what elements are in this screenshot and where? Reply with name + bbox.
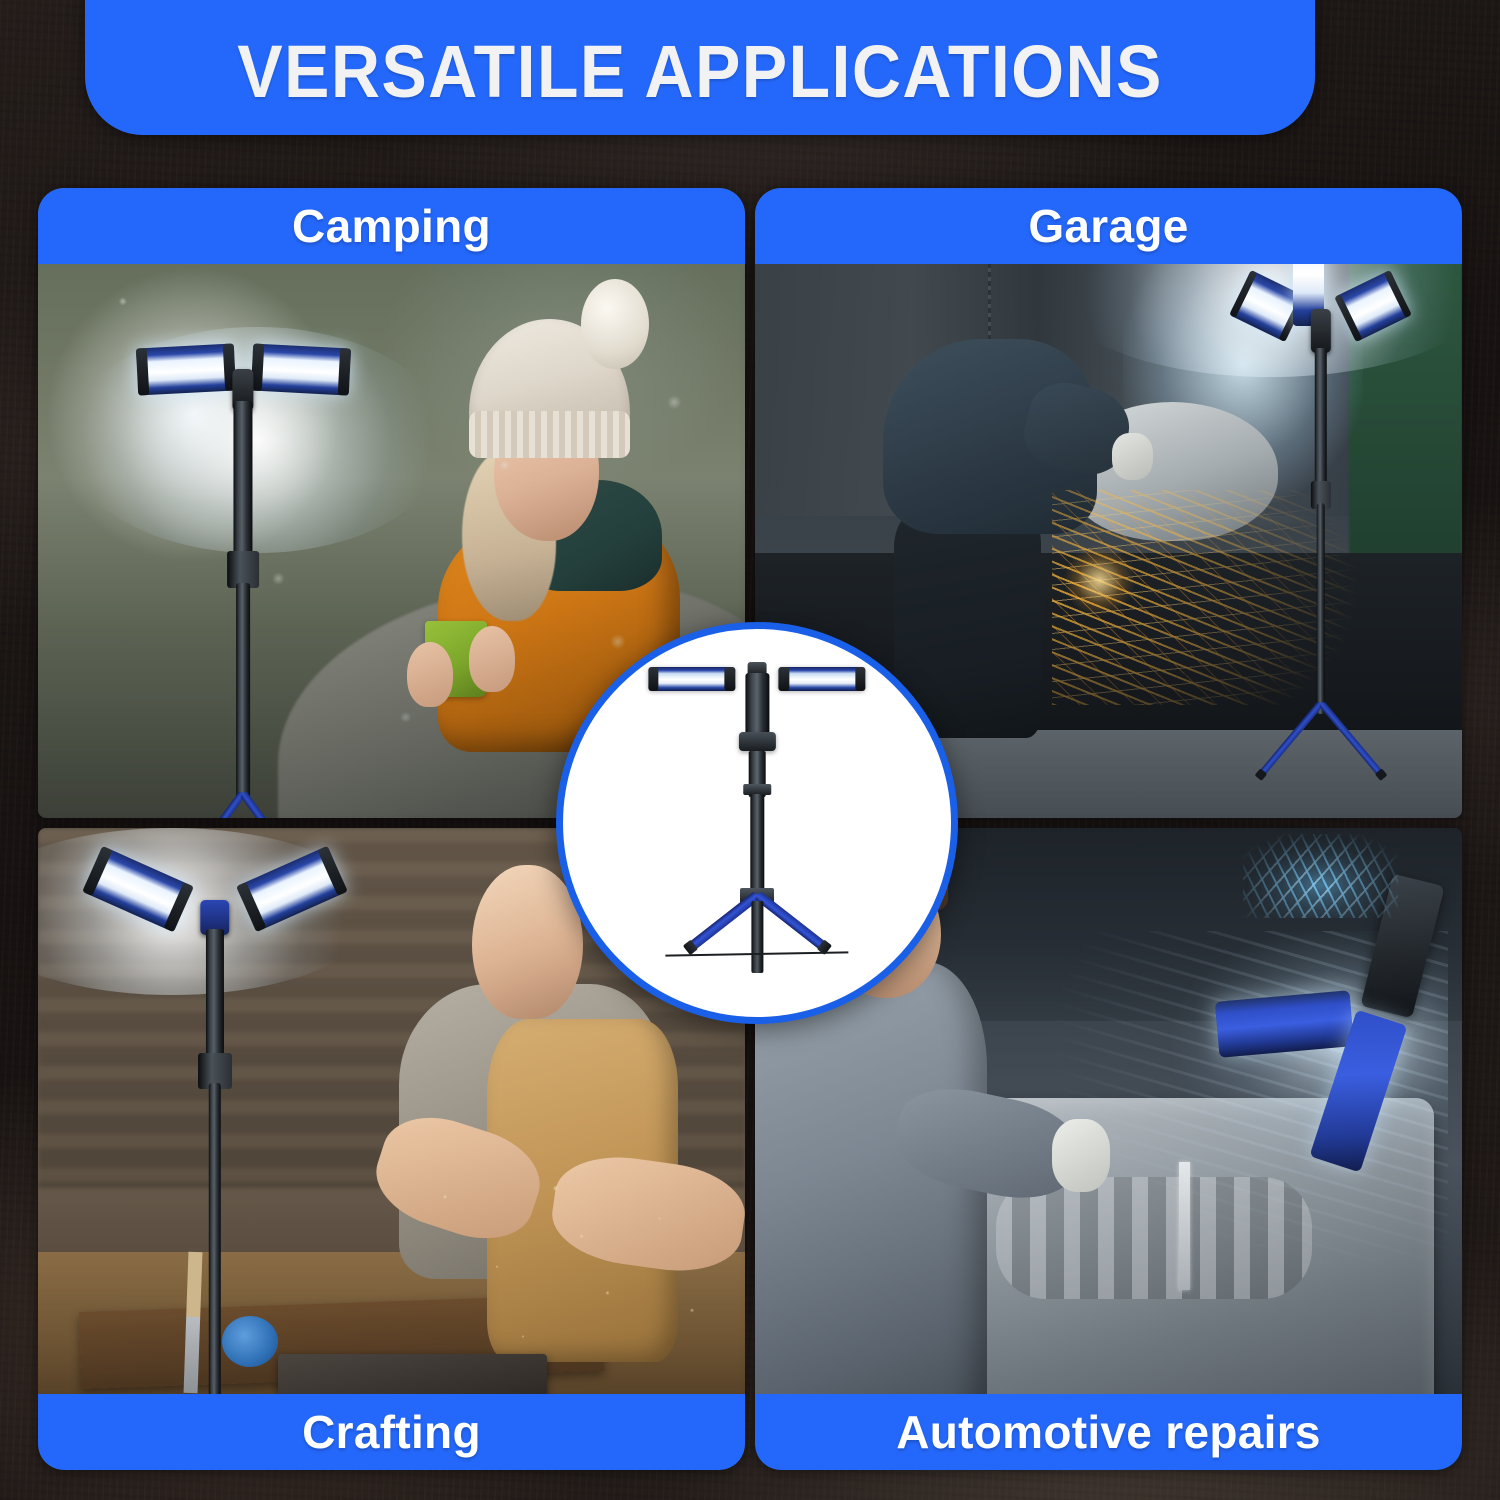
light-knuckle — [739, 732, 776, 752]
panel-label-crafting: Crafting — [38, 1394, 745, 1470]
work-light-tripod — [137, 346, 349, 812]
product-inset-circle — [556, 622, 958, 1024]
upper-pole — [206, 929, 224, 1059]
tripod-leg — [240, 791, 307, 818]
knit-beanie — [469, 319, 631, 450]
led-head-left — [136, 343, 236, 395]
tripod-leg — [687, 891, 760, 951]
sawdust — [406, 1149, 731, 1367]
upper-pole — [233, 401, 252, 560]
led-head-left — [648, 667, 735, 691]
light-neck — [745, 673, 769, 735]
light-glow — [66, 327, 448, 554]
face — [494, 400, 600, 541]
pole-collar — [227, 551, 259, 588]
page-title: VERSATILE APPLICATIONS — [237, 35, 1163, 135]
led-panel-left — [1215, 991, 1354, 1059]
led-head-right — [250, 343, 350, 395]
tripod-leg — [1318, 700, 1384, 777]
panel-label-camping: Camping — [38, 188, 745, 264]
panel-label-text: Crafting — [302, 1409, 481, 1455]
lower-pole — [751, 901, 763, 973]
hand-left — [407, 642, 454, 708]
green-mug — [425, 621, 487, 697]
lower-pole — [209, 1083, 221, 1426]
hair — [462, 450, 555, 621]
light-hub — [232, 369, 253, 411]
electric-arc-effect — [1243, 834, 1399, 917]
panel-label-text: Garage — [1028, 203, 1188, 249]
tripod-leg — [179, 791, 246, 818]
panel-label-automotive: Automotive repairs — [755, 1394, 1462, 1470]
tripod-leg — [1257, 700, 1323, 777]
header-banner: VERSATILE APPLICATIONS — [85, 0, 1315, 135]
light-hub — [1311, 309, 1331, 353]
upper-pole — [1314, 348, 1326, 492]
lower-pole — [1316, 503, 1325, 714]
led-head-right — [779, 667, 866, 691]
beanie-pompom — [581, 279, 649, 370]
panel-label-text: Automotive repairs — [896, 1409, 1321, 1455]
panel-label-text: Camping — [292, 203, 491, 249]
work-light-tripod — [102, 841, 328, 1432]
tripod-leg — [754, 891, 827, 951]
product-work-light — [648, 660, 865, 986]
work-glove — [1112, 433, 1153, 480]
jacket-collar — [518, 480, 661, 591]
coveralls — [755, 962, 987, 1445]
hand-right — [469, 626, 516, 692]
panel-label-garage: Garage — [755, 188, 1462, 264]
work-light-tripod — [1243, 226, 1399, 780]
lower-pole — [236, 583, 250, 797]
middle-pole — [750, 794, 764, 895]
